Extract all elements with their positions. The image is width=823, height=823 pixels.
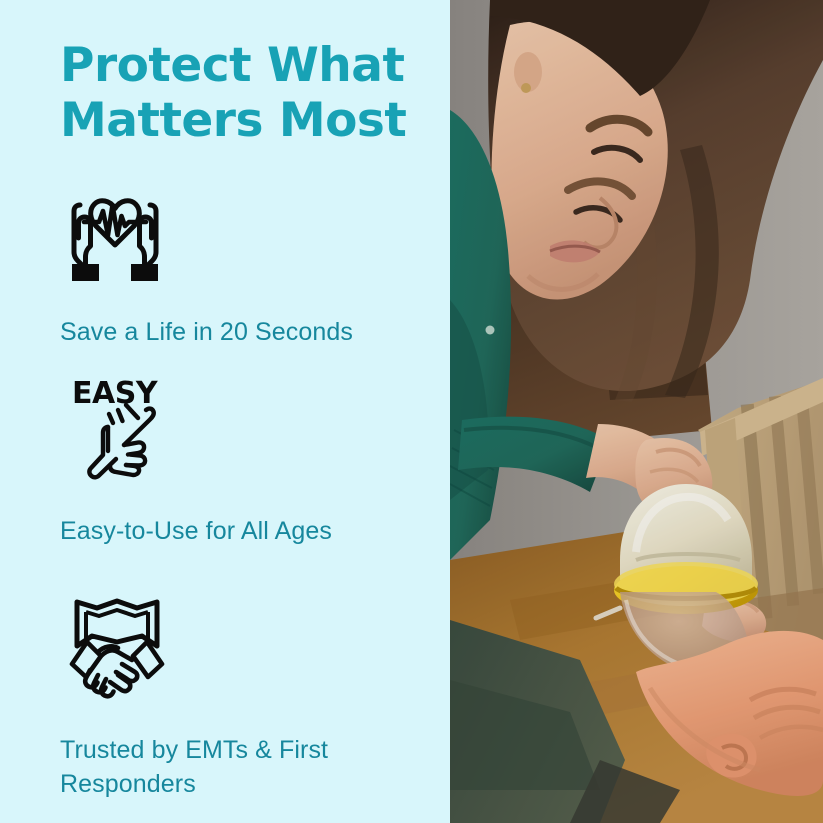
feature-label-save-a-life: Save a Life in 20 Seconds xyxy=(60,315,440,349)
left-content-panel: Protect What Matters Most Save a Life in xyxy=(0,0,450,823)
page-title: Protect What Matters Most xyxy=(60,38,440,149)
product-demo-photo xyxy=(450,0,823,823)
feature-label-easy-to-use: Easy-to-Use for All Ages xyxy=(60,514,440,548)
handshake-shield-icon xyxy=(60,592,440,705)
feature-item-save-a-life: Save a Life in 20 Seconds xyxy=(60,178,440,349)
hands-holding-heart-ecg-icon xyxy=(60,178,440,289)
easy-word-glyph: EASY xyxy=(72,376,159,411)
feature-item-easy-to-use: EASY Easy-to-Use for All Ages xyxy=(60,371,440,548)
feature-label-trusted-by-emts: Trusted by EMTs & First Responders xyxy=(60,733,440,801)
easy-pointing-hand-icon: EASY xyxy=(60,371,440,488)
feature-item-trusted-by-emts: Trusted by EMTs & First Responders xyxy=(60,592,440,801)
promo-banner: Protect What Matters Most Save a Life in xyxy=(0,0,823,823)
